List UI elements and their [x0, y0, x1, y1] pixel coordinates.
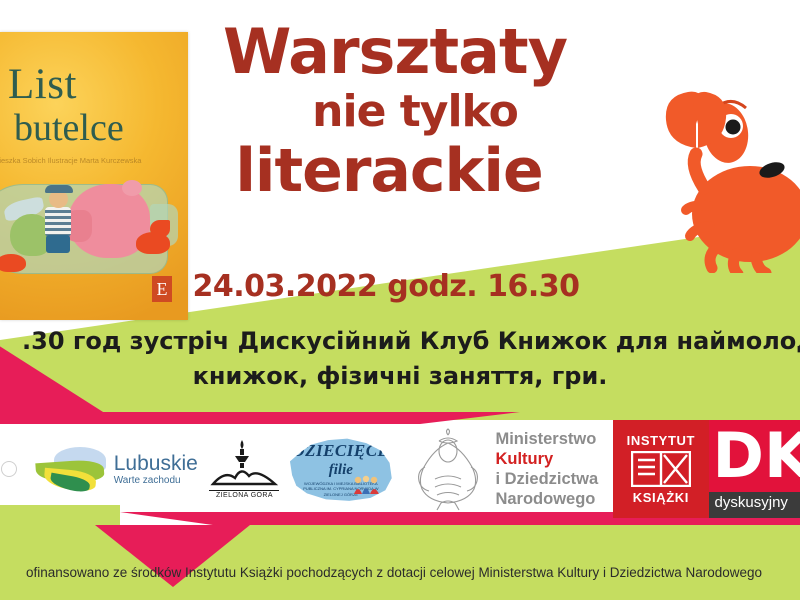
kids-illustration-icon — [352, 475, 382, 495]
lubuskie-wordmark: Lubuskie Warte zachodu — [114, 452, 198, 486]
partial-circle-logo-icon — [1, 461, 17, 477]
boy-shirt — [45, 207, 71, 237]
headline-line-2: nie tylko — [30, 86, 800, 138]
headline-block: Warsztaty nie tylko literackie — [0, 18, 800, 204]
instytut-label: INSTYTUT — [627, 433, 695, 448]
logo-dkk: DK dyskusyjny — [709, 420, 800, 518]
sponsor-logo-row: Lubuskie Warte zachodu ZIELONA GÓRA DZIE… — [0, 420, 800, 518]
filie-word: filie — [329, 462, 353, 479]
ksiazki-label: KSIĄŻKI — [633, 490, 689, 505]
instytut-ksiazki-inner: INSTYTUT KSIĄŻKI — [627, 433, 695, 505]
ministerstwo-line-1: Ministerstwo — [495, 429, 598, 449]
lubuskie-claim: Warte zachodu — [114, 475, 198, 486]
ministerstwo-line-4: Narodowego — [495, 489, 598, 509]
cover-crab-right-claw — [150, 220, 170, 238]
poster-image: List butelce Agnieszka Sobich Ilustracje… — [0, 0, 800, 600]
logo-dzieciece-filie: DZIECIĘCE filie WOJEWÓDZKA I MIEJSKA BIB… — [285, 420, 396, 518]
event-date-time: 24.03.2022 godz. 16.30 — [0, 269, 786, 304]
lubuskie-name: Lubuskie — [114, 452, 198, 475]
logo-instytut-ksiazki: INSTYTUT KSIĄŻKI — [613, 420, 708, 518]
lubuskie-mark-icon — [36, 443, 106, 495]
headline-line-1: Warsztaty — [0, 18, 800, 86]
ministerstwo-line-3: i Dziedzictwa — [495, 469, 598, 489]
dkk-subtitle: dyskusyjny — [715, 494, 788, 511]
dzieciece-word: DZIECIĘCE — [292, 441, 389, 461]
polish-eagle-icon — [411, 427, 485, 511]
dkk-letters: DK — [713, 422, 800, 490]
ministerstwo-wordmark: Ministerstwo Kultury i Dziedzictwa Narod… — [495, 429, 598, 510]
description-line-1: .30 год зустріч Дискусійний Клуб Книжок … — [22, 324, 800, 359]
zielona-gora-label: ZIELONA GÓRA — [209, 490, 279, 499]
logo-partial-edge — [0, 420, 30, 518]
boy-shorts — [46, 235, 70, 253]
logo-lubuskie: Lubuskie Warte zachodu — [30, 420, 204, 518]
logo-zielona-gora: ZIELONA GÓRA — [204, 420, 285, 518]
logo-ministerstwo-kultury: Ministerstwo Kultury i Dziedzictwa Narod… — [397, 420, 614, 518]
funding-credit-text: ofinansowano ze środków Instytutu Książk… — [0, 565, 794, 580]
open-book-icon — [631, 451, 691, 487]
cloud-shape-icon: DZIECIĘCE filie WOJEWÓDZKA I MIEJSKA BIB… — [288, 431, 394, 507]
zielona-gora-mark-icon: ZIELONA GÓRA — [209, 438, 279, 500]
description-line-2: книжок, фізичні заняття, гри. — [0, 359, 800, 394]
headline-line-3: literackie — [0, 138, 800, 204]
event-description: .30 год зустріч Дискусійний Клуб Книжок … — [0, 324, 800, 394]
ministerstwo-line-2: Kultury — [495, 449, 598, 469]
